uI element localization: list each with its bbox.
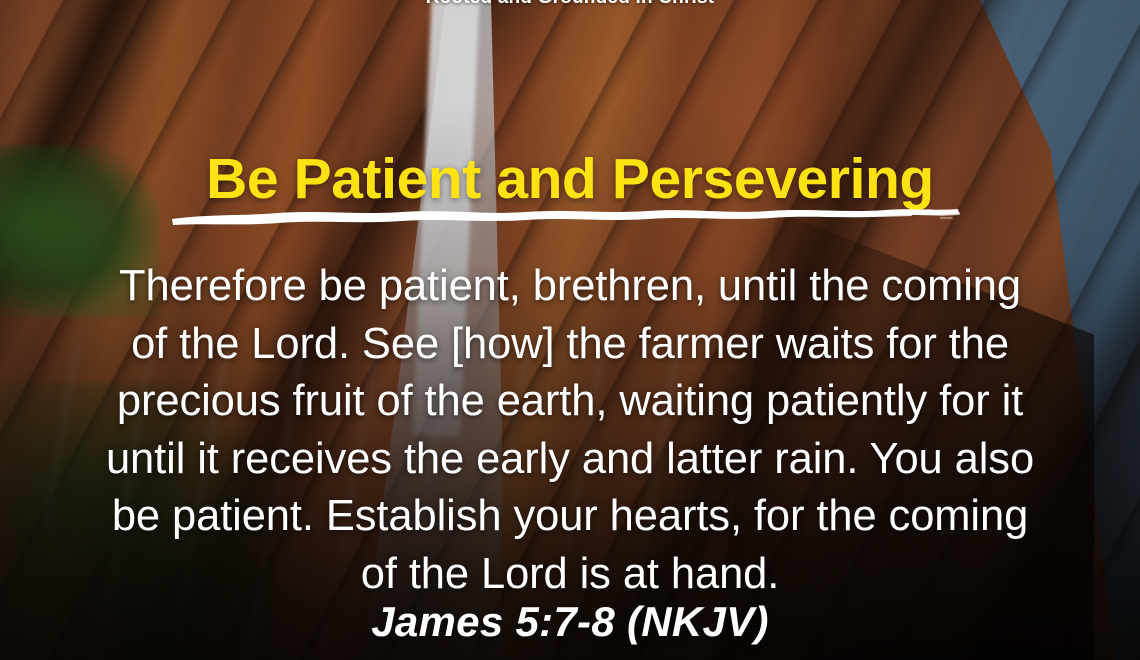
verse-line: of the Lord. See [how] the farmer waits … — [60, 316, 1080, 374]
graphic-content: Rooted and Grounded in Christ Be Patient… — [0, 0, 1140, 660]
verse-line: Therefore be patient, brethren, until th… — [60, 258, 1080, 316]
scripture-text: Therefore be patient, brethren, until th… — [60, 258, 1080, 603]
verse-line: of the Lord is at hand. — [60, 546, 1080, 604]
ministry-strapline: Rooted and Grounded in Christ — [0, 0, 1140, 9]
verse-line: precious fruit of the earth, waiting pat… — [60, 373, 1080, 431]
scripture-reference: James 5:7-8 (NKJV) — [0, 598, 1140, 646]
brush-stroke-divider — [170, 203, 960, 229]
scripture-graphic: Rooted and Grounded in Christ Be Patient… — [0, 0, 1140, 660]
verse-line: be patient. Establish your hearts, for t… — [60, 488, 1080, 546]
verse-line: until it receives the early and latter r… — [60, 431, 1080, 489]
headline-title: Be Patient and Persevering — [0, 151, 1140, 208]
